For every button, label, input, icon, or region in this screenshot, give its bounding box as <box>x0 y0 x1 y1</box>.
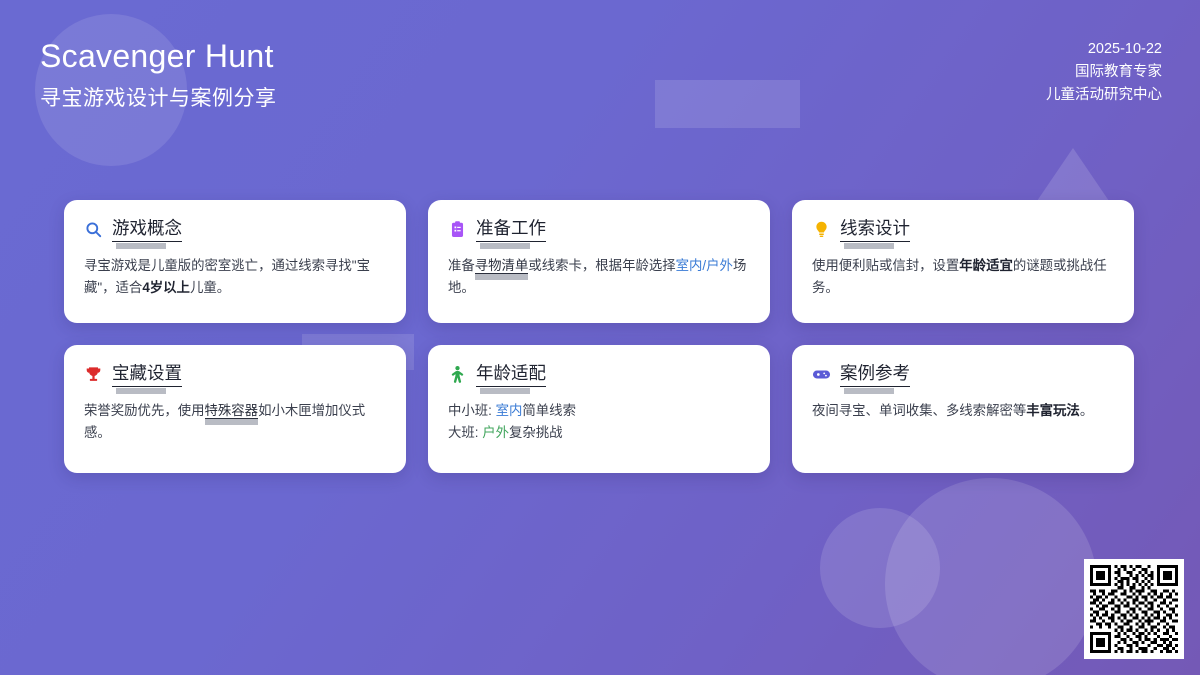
card-header: 宝藏设置 <box>84 363 386 387</box>
person-icon <box>448 365 467 384</box>
card-title-wrapper: 线索设计 <box>840 218 910 242</box>
body-text: 儿童。 <box>190 280 230 295</box>
body-emphasis: 4岁以上 <box>142 280 190 295</box>
page-subtitle: 寻宝游戏设计与案例分享 <box>40 82 277 112</box>
content-card[interactable]: 年龄适配中小班: 室内简单线索大班: 户外复杂挑战 <box>428 345 770 473</box>
content-card[interactable]: 宝藏设置荣誉奖励优先，使用特殊容器如小木匣增加仪式感。 <box>64 345 406 473</box>
card-grid: 游戏概念寻宝游戏是儿童版的密室逃亡，通过线索寻找"宝藏"，适合4岁以上儿童。准备… <box>64 200 1138 473</box>
content-card[interactable]: 线索设计使用便利贴或信封，设置年龄适宜的谜题或挑战任务。 <box>792 200 1134 323</box>
title-underline-bar <box>844 388 894 394</box>
card-body: 使用便利贴或信封，设置年龄适宜的谜题或挑战任务。 <box>812 255 1114 300</box>
card-header: 准备工作 <box>448 218 750 242</box>
body-text: 大班: <box>448 425 482 440</box>
slide-header: Scavenger Hunt 寻宝游戏设计与案例分享 2025-10-22 国际… <box>0 0 1200 160</box>
body-marked-term: 特殊容器 <box>205 403 259 419</box>
card-title: 游戏概念 <box>112 218 182 242</box>
title-underline-bar <box>116 243 166 249</box>
decor-circle-small-bottom <box>820 508 940 628</box>
card-body-line: 中小班: 室内简单线索 <box>448 400 750 423</box>
body-emphasis: 年龄适宜 <box>959 258 1013 273</box>
card-title: 准备工作 <box>476 218 546 242</box>
lightbulb-icon <box>812 220 831 239</box>
body-highlight-blue: 室内/户外 <box>676 258 733 273</box>
meta-org-line1: 国际教育专家 <box>1046 61 1162 84</box>
card-header: 年龄适配 <box>448 363 750 387</box>
card-header: 线索设计 <box>812 218 1114 242</box>
body-text: 使用便利贴或信封，设置 <box>812 258 959 273</box>
card-title: 年龄适配 <box>476 363 546 387</box>
body-highlight-green: 户外 <box>482 425 509 440</box>
card-title: 宝藏设置 <box>112 363 182 387</box>
title-underline-bar <box>480 388 530 394</box>
title-block: Scavenger Hunt 寻宝游戏设计与案例分享 <box>40 36 277 112</box>
decor-circle-large-bottom <box>885 478 1097 675</box>
card-title-wrapper: 宝藏设置 <box>112 363 182 387</box>
body-text: 复杂挑战 <box>509 425 563 440</box>
card-title-wrapper: 准备工作 <box>476 218 546 242</box>
body-text: 。 <box>1080 403 1093 418</box>
card-title-wrapper: 游戏概念 <box>112 218 182 242</box>
card-header: 游戏概念 <box>84 218 386 242</box>
body-text: 准备 <box>448 258 475 273</box>
card-body: 寻宝游戏是儿童版的密室逃亡，通过线索寻找"宝藏"，适合4岁以上儿童。 <box>84 255 386 300</box>
body-highlight-blue: 室内 <box>496 403 523 418</box>
title-underline-bar <box>480 243 530 249</box>
card-title: 线索设计 <box>840 218 910 242</box>
card-header: 案例参考 <box>812 363 1114 387</box>
body-text: 中小班: <box>448 403 496 418</box>
card-title-wrapper: 年龄适配 <box>476 363 546 387</box>
card-title-wrapper: 案例参考 <box>840 363 910 387</box>
body-text: 夜间寻宝、单词收集、多线索解密等 <box>812 403 1026 418</box>
card-title: 案例参考 <box>840 363 910 387</box>
body-text: 荣誉奖励优先，使用 <box>84 403 205 418</box>
gamepad-icon <box>812 365 831 384</box>
card-body: 中小班: 室内简单线索大班: 户外复杂挑战 <box>448 400 750 445</box>
search-icon <box>84 220 103 239</box>
content-card[interactable]: 准备工作准备寻物清单或线索卡，根据年龄选择室内/户外场地。 <box>428 200 770 323</box>
clipboard-icon <box>448 220 467 239</box>
body-emphasis: 丰富玩法 <box>1026 403 1080 418</box>
meta-org-line2: 儿童活动研究中心 <box>1046 84 1162 107</box>
content-card[interactable]: 游戏概念寻宝游戏是儿童版的密室逃亡，通过线索寻找"宝藏"，适合4岁以上儿童。 <box>64 200 406 323</box>
card-body-line: 大班: 户外复杂挑战 <box>448 422 750 445</box>
title-underline-bar <box>844 243 894 249</box>
trophy-icon <box>84 365 103 384</box>
qr-code-image <box>1090 565 1178 653</box>
title-underline-bar <box>116 388 166 394</box>
card-body: 荣誉奖励优先，使用特殊容器如小木匣增加仪式感。 <box>84 400 386 445</box>
card-body: 准备寻物清单或线索卡，根据年龄选择室内/户外场地。 <box>448 255 750 300</box>
body-marked-term: 寻物清单 <box>475 258 529 274</box>
qr-code[interactable] <box>1084 559 1184 659</box>
page-title: Scavenger Hunt <box>40 36 277 78</box>
card-body: 夜间寻宝、单词收集、多线索解密等丰富玩法。 <box>812 400 1114 423</box>
header-meta: 2025-10-22 国际教育专家 儿童活动研究中心 <box>1046 38 1162 106</box>
content-card[interactable]: 案例参考夜间寻宝、单词收集、多线索解密等丰富玩法。 <box>792 345 1134 473</box>
meta-date: 2025-10-22 <box>1046 38 1162 61</box>
body-text: 或线索卡，根据年龄选择 <box>528 258 675 273</box>
body-text: 简单线索 <box>522 403 576 418</box>
